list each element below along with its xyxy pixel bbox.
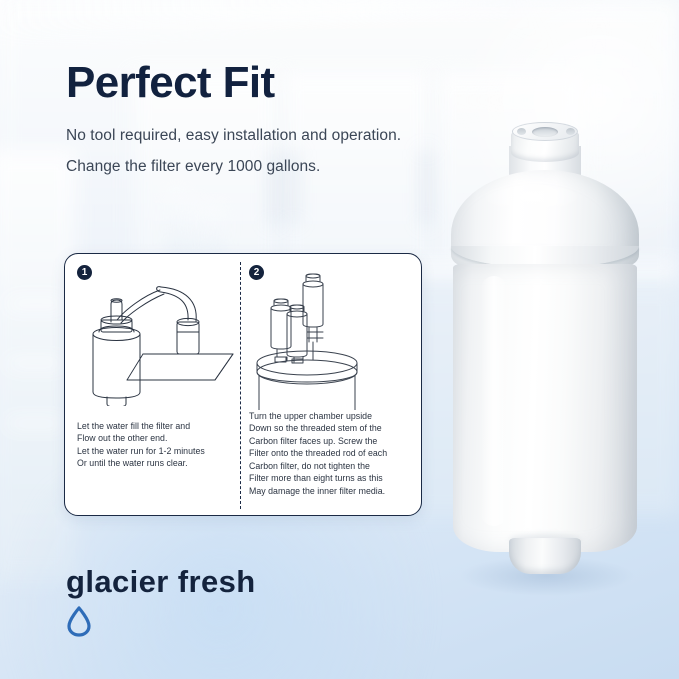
fridge-shelf xyxy=(8,360,64,367)
headline-block: Perfect Fit No tool required, easy insta… xyxy=(66,60,486,179)
collar-notch xyxy=(566,128,575,135)
collar-inlet-hole xyxy=(532,127,558,137)
instruction-step-2: 2 xyxy=(241,254,422,515)
product-marketing-image: Perfect Fit No tool required, easy insta… xyxy=(0,0,679,679)
step-caption: Turn the upper chamber upside Down so th… xyxy=(249,410,419,497)
instruction-panel: 1 xyxy=(64,253,422,516)
counter-bottle xyxy=(168,186,185,262)
brand-logo: glacier fresh xyxy=(66,566,256,637)
water-drop-icon xyxy=(66,605,92,637)
filter-outlet-stem xyxy=(509,538,581,574)
body-highlight xyxy=(481,276,507,526)
subtitle-line-2: Change the filter every 1000 gallons. xyxy=(66,155,486,179)
fridge-shelf xyxy=(8,420,64,427)
faucet-filter-icon xyxy=(65,276,240,406)
collar-notch xyxy=(517,128,526,135)
brand-name: glacier fresh xyxy=(66,566,256,597)
instruction-step-1: 1 xyxy=(65,254,240,515)
step-caption: Let the water fill the filter and Flow o… xyxy=(77,420,234,470)
subtitle-line-1: No tool required, easy installation and … xyxy=(66,124,486,148)
product-image xyxy=(437,126,647,596)
fridge-shelf xyxy=(8,300,64,307)
chamber-assembly-icon xyxy=(241,262,422,410)
page-title: Perfect Fit xyxy=(66,60,486,106)
cap-highlight xyxy=(483,182,579,212)
